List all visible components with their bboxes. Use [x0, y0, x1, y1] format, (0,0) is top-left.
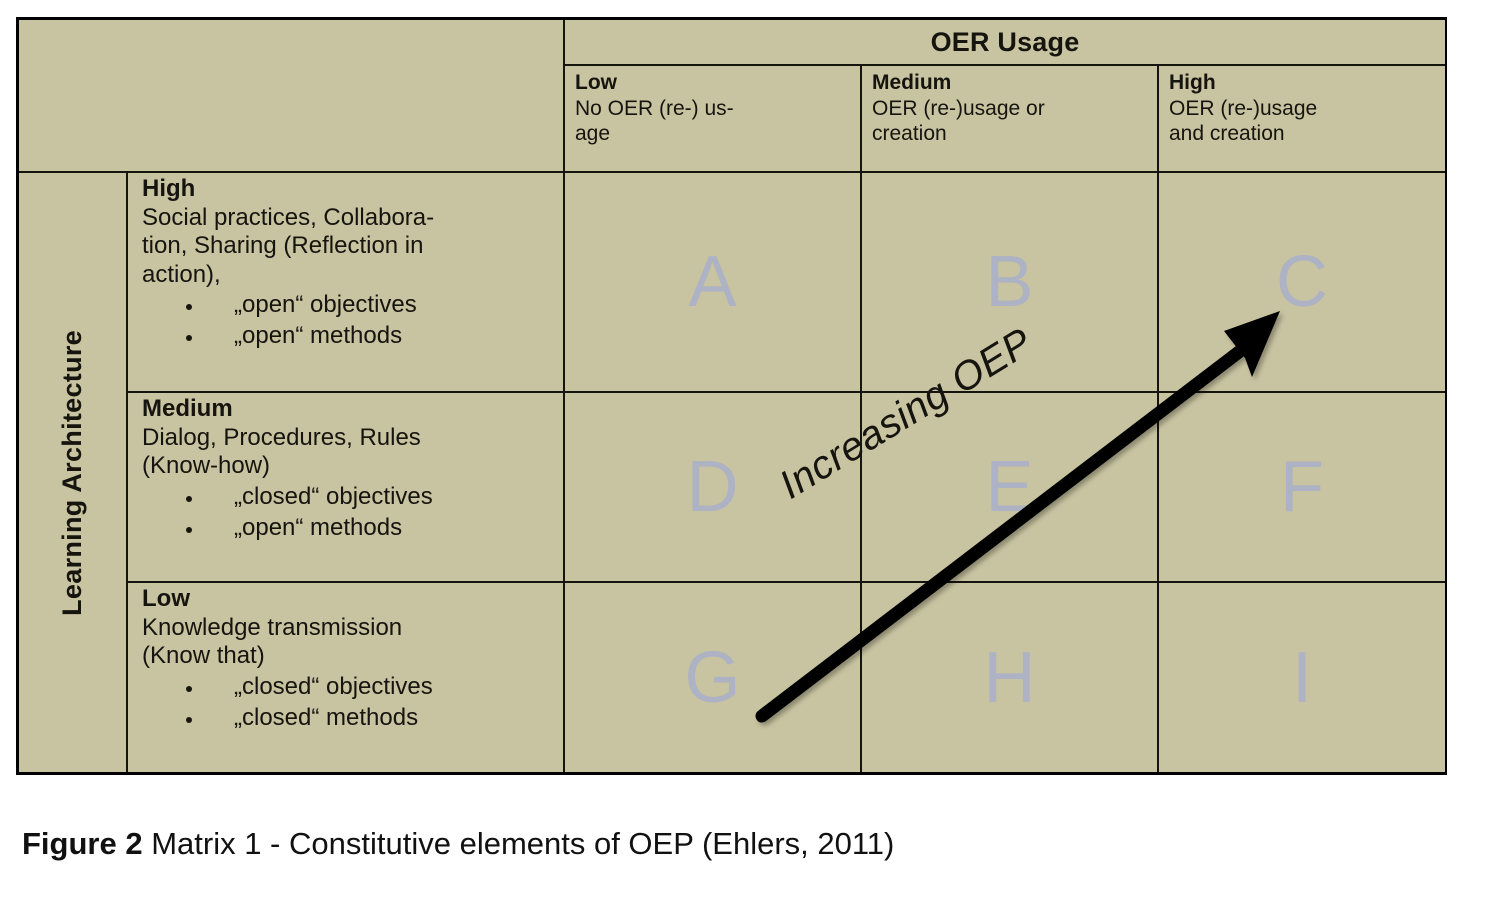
- row-header-low-level: Low: [142, 585, 557, 614]
- list-item: „closed“ methods: [204, 703, 557, 732]
- matrix-cell-D: D: [563, 391, 860, 581]
- row-header-low-desc: Knowledge transmission (Know that): [142, 614, 557, 671]
- figure-caption: Figure 2 Matrix 1 - Constitutive element…: [22, 826, 894, 862]
- row-header-medium: Medium Dialog, Procedures, Rules (Know-h…: [126, 391, 563, 581]
- list-item: „closed“ objectives: [204, 672, 557, 701]
- row-header-medium-level: Medium: [142, 395, 557, 424]
- matrix-cell-I: I: [1157, 581, 1445, 772]
- matrix-cell-H-label: H: [984, 642, 1036, 714]
- matrix-cell-G-label: G: [684, 642, 740, 714]
- column-header-low: Low No OER (re-) us- age: [563, 64, 860, 171]
- figure-caption-text: Matrix 1 - Constitutive elements of OEP …: [143, 826, 895, 861]
- list-item: „open“ objectives: [204, 290, 557, 319]
- matrix-cell-E: E: [860, 391, 1157, 581]
- column-header-high-desc: OER (re-)usage and creation: [1169, 96, 1437, 147]
- row-axis-title-cell: Learning Architecture: [19, 171, 126, 772]
- matrix-cell-G: G: [563, 581, 860, 772]
- matrix-cell-E-label: E: [985, 451, 1033, 523]
- matrix-cell-D-label: D: [687, 451, 739, 523]
- column-header-medium-level: Medium: [872, 70, 1149, 96]
- matrix-cell-F-label: F: [1280, 451, 1324, 523]
- row-header-high-level: High: [142, 175, 557, 204]
- figure-oep-matrix: OER Usage Low No OER (re-) us- age Mediu…: [0, 0, 1488, 904]
- row-header-medium-bullets: „closed“ objectives „open“ methods: [142, 482, 557, 543]
- list-item: „open“ methods: [204, 321, 557, 350]
- list-item: „open“ methods: [204, 513, 557, 542]
- column-header-medium-desc: OER (re-)usage or creation: [872, 96, 1149, 147]
- row-header-medium-desc: Dialog, Procedures, Rules (Know-how): [142, 424, 557, 481]
- row-header-low-bullets: „closed“ objectives „closed“ methods: [142, 672, 557, 733]
- table-corner-blank: [19, 20, 563, 171]
- row-header-high-bullets: „open“ objectives „open“ methods: [142, 290, 557, 351]
- row-header-high-desc: Social practices, Collabora- tion, Shari…: [142, 204, 557, 290]
- matrix-cell-A-label: A: [688, 246, 736, 318]
- column-header-low-desc: No OER (re-) us- age: [575, 96, 852, 147]
- matrix-cell-F: F: [1157, 391, 1445, 581]
- column-header-low-level: Low: [575, 70, 852, 96]
- matrix-cell-I-label: I: [1292, 642, 1312, 714]
- matrix-cell-A: A: [563, 171, 860, 391]
- matrix-cell-C-label: C: [1276, 246, 1328, 318]
- matrix-cell-H: H: [860, 581, 1157, 772]
- matrix-cell-B-label: B: [985, 246, 1033, 318]
- column-header-high-level: High: [1169, 70, 1437, 96]
- list-item: „closed“ objectives: [204, 482, 557, 511]
- column-axis-title: OER Usage: [563, 20, 1445, 64]
- figure-caption-label: Figure 2: [22, 826, 143, 861]
- matrix-cell-B: B: [860, 171, 1157, 391]
- row-axis-title: Learning Architecture: [57, 330, 88, 616]
- row-header-low: Low Knowledge transmission (Know that) „…: [126, 581, 563, 772]
- matrix-grid: OER Usage Low No OER (re-) us- age Mediu…: [19, 20, 1444, 772]
- row-header-high: High Social practices, Collabora- tion, …: [126, 171, 563, 391]
- matrix-cell-C: C: [1157, 171, 1445, 391]
- column-header-high: High OER (re-)usage and creation: [1157, 64, 1445, 171]
- column-header-medium: Medium OER (re-)usage or creation: [860, 64, 1157, 171]
- oep-matrix-table: OER Usage Low No OER (re-) us- age Mediu…: [16, 17, 1447, 775]
